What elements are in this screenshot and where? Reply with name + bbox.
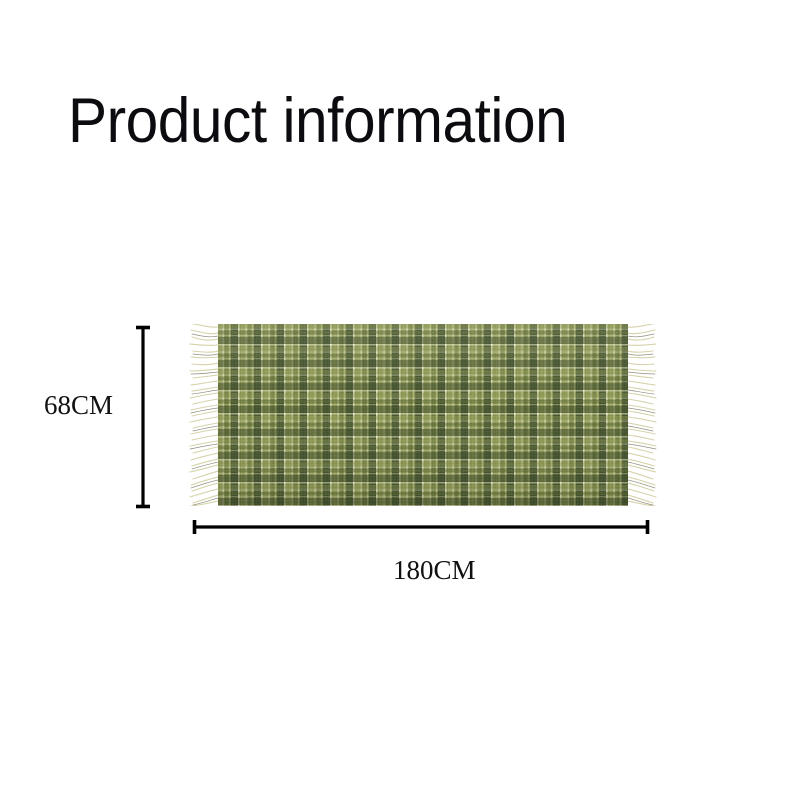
product-information-page: Product information: [0, 0, 800, 800]
dimension-label-width: 180CM: [393, 555, 476, 586]
dimension-line-width: [186, 516, 656, 538]
scarf-fringe-left: [188, 324, 218, 506]
scarf-diagram: 68CM 180CM: [0, 0, 800, 800]
dimension-line-height: [132, 318, 156, 516]
scarf-fringe-right: [628, 324, 658, 506]
scarf-fabric-body: [218, 324, 628, 506]
dimension-label-height: 68CM: [44, 390, 113, 421]
